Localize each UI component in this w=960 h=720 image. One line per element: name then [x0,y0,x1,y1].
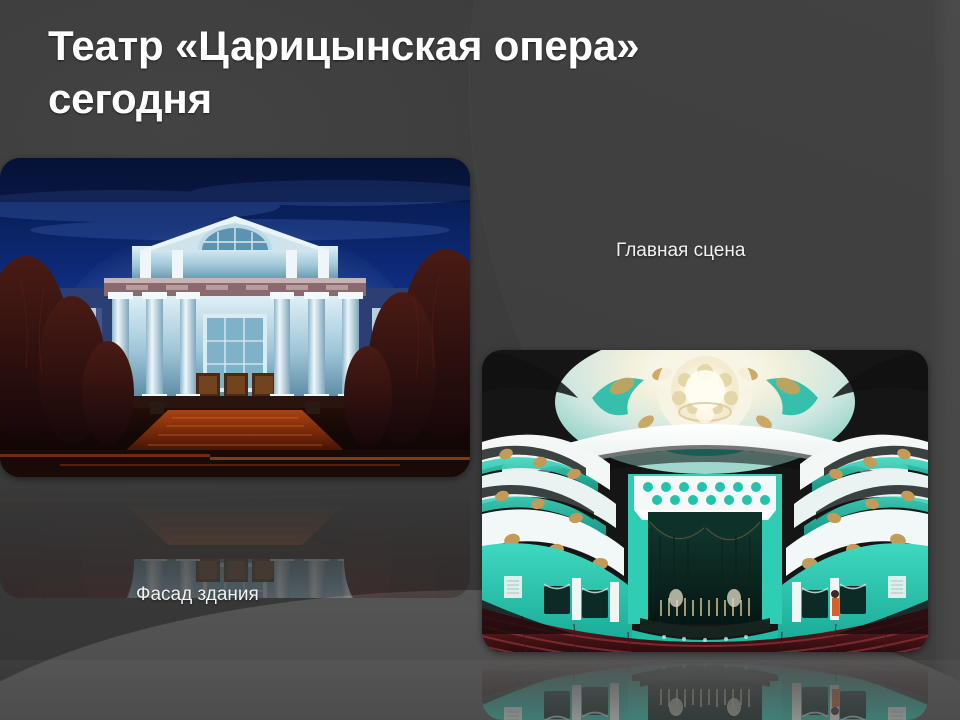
background-right-strip [930,0,960,720]
background-floor-sheen [0,660,960,720]
stage-photo-caption: Главная сцена [616,240,745,263]
slide-title: Театр «Царицынская опера» сегодня [48,20,688,126]
facade-photo[interactable] [0,158,470,477]
facade-photo-caption: Фасад здания [136,584,259,607]
presentation-slide: Театр «Царицынская опера» сегодня [0,0,960,720]
stage-photo[interactable] [482,350,928,652]
